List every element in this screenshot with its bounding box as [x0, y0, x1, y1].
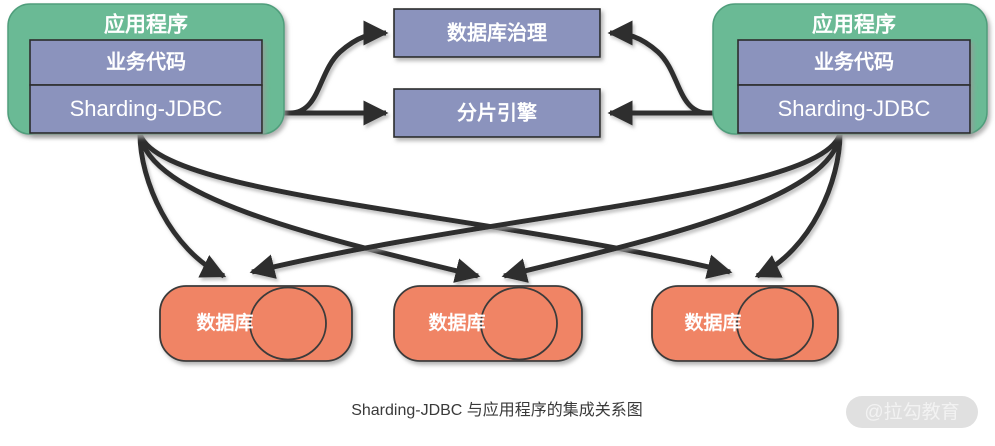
watermark: @拉勾教育: [846, 396, 978, 428]
database-2-cap: [481, 288, 557, 360]
diagram-root: 应用程序 业务代码 Sharding-JDBC 应用程序 业务代码 Shardi…: [0, 0, 995, 446]
app-right-business-code-label: 业务代码: [814, 49, 894, 73]
database-3[interactable]: 数据库: [652, 286, 838, 361]
app-right-sharding-jdbc-label: Sharding-JDBC: [778, 96, 931, 121]
app-left-business-code-label: 业务代码: [106, 49, 186, 73]
app-right[interactable]: 应用程序 业务代码 Sharding-JDBC: [713, 4, 987, 134]
edge-right-to-database-3: [757, 134, 840, 276]
edge-right-sharding-to-governance: [610, 33, 730, 113]
module-sharding-engine[interactable]: 分片引擎: [394, 89, 600, 137]
database-2[interactable]: 数据库: [394, 286, 582, 361]
architecture-diagram: 应用程序 业务代码 Sharding-JDBC 应用程序 业务代码 Shardi…: [0, 0, 995, 446]
app-left-title: 应用程序: [104, 13, 188, 37]
edge-left-sharding-to-governance: [268, 33, 386, 113]
app-right-title: 应用程序: [812, 13, 896, 37]
edges-right-app-to-databases: [252, 134, 840, 276]
edges-left-app-to-modules: [268, 33, 386, 113]
edges-left-app-to-databases: [140, 134, 730, 276]
module-governance-label: 数据库治理: [447, 20, 547, 44]
diagram-caption: Sharding-JDBC 与应用程序的集成关系图: [351, 400, 643, 419]
database-1-label: 数据库: [196, 311, 253, 334]
app-left[interactable]: 应用程序 业务代码 Sharding-JDBC: [8, 4, 284, 134]
database-1-cap: [250, 288, 326, 360]
database-3-cap: [737, 288, 813, 360]
database-1[interactable]: 数据库: [160, 286, 352, 361]
watermark-label: @拉勾教育: [864, 401, 959, 423]
edges-right-app-to-modules: [610, 33, 730, 113]
module-governance[interactable]: 数据库治理: [394, 9, 600, 57]
database-2-label: 数据库: [428, 311, 485, 334]
database-3-label: 数据库: [684, 311, 741, 334]
module-sharding-engine-label: 分片引擎: [457, 100, 537, 124]
app-left-sharding-jdbc-label: Sharding-JDBC: [70, 96, 223, 121]
